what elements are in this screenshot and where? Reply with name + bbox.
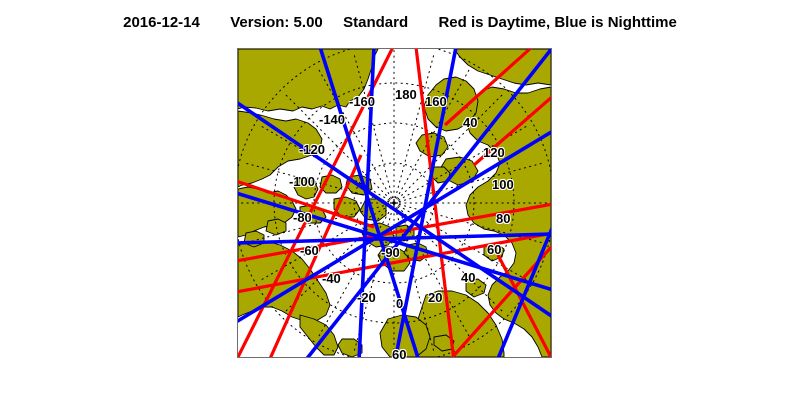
title-mode: Standard [343,14,408,31]
title-version: Version: 5.00 [230,14,323,31]
map-graphics [238,49,551,357]
polar-map-panel[interactable] [237,48,552,358]
figure-title: 2016-12-14 Version: 5.00 Standard Red is… [0,14,800,31]
land-small-isle-1 [244,231,264,247]
map-clip [238,49,551,357]
figure-canvas: 2016-12-14 Version: 5.00 Standard Red is… [0,0,800,400]
title-legend: Red is Daytime, Blue is Nighttime [438,14,676,31]
title-date: 2016-12-14 [123,14,200,31]
